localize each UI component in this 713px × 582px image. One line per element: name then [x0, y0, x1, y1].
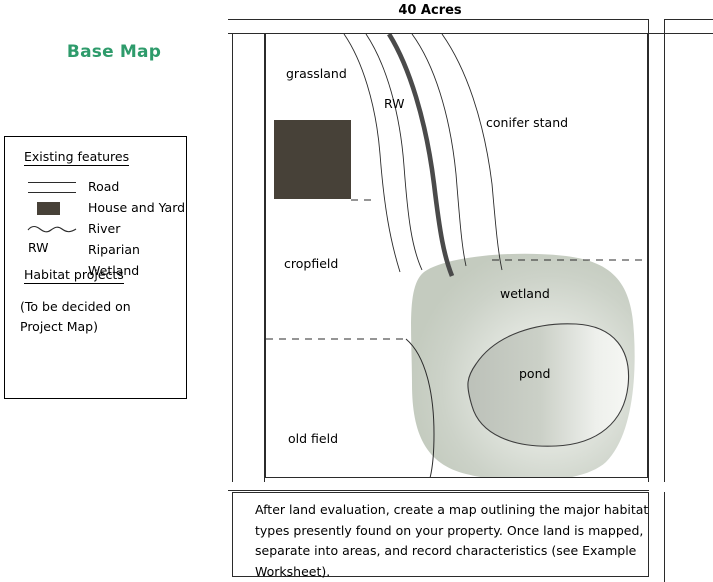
map-label-wetland: wetland [500, 286, 550, 301]
road-top-line-1-right [664, 19, 713, 20]
map-label-cropfield: cropfield [284, 256, 338, 271]
map-label-pond: pond [519, 366, 550, 381]
caption-top-rule [228, 490, 649, 491]
map-label-conifer-stand: conifer stand [486, 115, 568, 130]
caption-right-rule [664, 492, 665, 582]
acres-label: 40 Acres [330, 3, 530, 18]
road-right-line-2 [664, 19, 665, 482]
road-left-line-1 [232, 33, 233, 482]
caption-box: After land evaluation, create a map outl… [232, 492, 649, 577]
road-top-line-2-right [648, 33, 713, 34]
riparian-wetland-boundaries [344, 34, 502, 272]
map-label-riparian-wetland-code: RW [384, 96, 405, 111]
river-line [389, 34, 452, 276]
map-label-grassland: grassland [286, 66, 347, 81]
road-top-line-2-left [228, 33, 265, 34]
map-label-old-field: old field [288, 431, 338, 446]
caption-text: After land evaluation, create a map outl… [255, 500, 650, 582]
road-right-line-1 [648, 19, 649, 482]
house-and-yard-polygon [274, 120, 351, 199]
property-boundary: grassland RW conifer stand cropfield wet… [265, 33, 648, 478]
road-top-line-1 [228, 19, 648, 20]
